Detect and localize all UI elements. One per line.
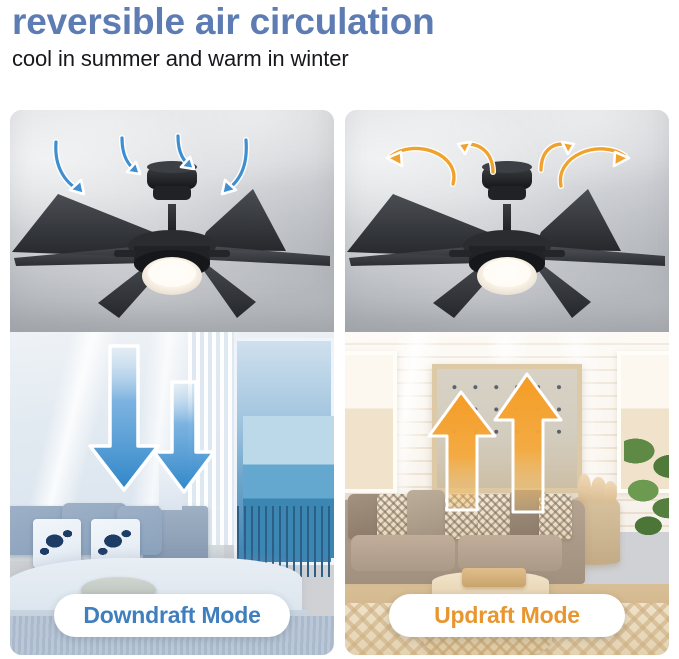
badge-downdraft[interactable]: Downdraft Mode: [54, 594, 290, 637]
header: reversible air circulation cool in summe…: [12, 2, 672, 72]
sofa-pillow: [478, 494, 514, 539]
ceiling-area-downdraft: [10, 110, 334, 332]
wooden-tray: [462, 568, 527, 587]
infographic-page: reversible air circulation cool in summe…: [0, 0, 679, 659]
panel-updraft[interactable]: Updraft Mode: [345, 110, 669, 655]
page-title: reversible air circulation: [12, 2, 672, 42]
wall-art-pattern: [444, 376, 569, 443]
window-left: [345, 351, 397, 493]
vase: [578, 474, 591, 503]
sofa-pillow: [377, 494, 409, 539]
ceiling-fan-downdraft: [10, 110, 334, 332]
sofa-seat-cushion: [351, 535, 455, 571]
sofa-seat-cushion: [458, 535, 562, 571]
houseplant: [624, 429, 669, 539]
fan-led-light: [477, 257, 537, 295]
panel-downdraft[interactable]: Downdraft Mode: [10, 110, 334, 655]
page-subtitle: cool in summer and warm in winter: [12, 46, 672, 72]
badge-downdraft-label: Downdraft Mode: [83, 602, 260, 629]
panel-row: Downdraft Mode: [0, 110, 679, 658]
fan-led-light: [142, 257, 202, 295]
sofa-pillow: [407, 490, 446, 538]
badge-updraft[interactable]: Updraft Mode: [389, 594, 625, 637]
ceiling-fan-updraft: [345, 110, 669, 332]
framed-wall-art: [432, 364, 581, 493]
badge-updraft-label: Updraft Mode: [434, 602, 580, 629]
table-lamp: [159, 461, 182, 509]
vase: [604, 481, 617, 504]
ceiling-area-updraft: [345, 110, 669, 332]
sofa-pillow: [445, 494, 481, 539]
sofa-pillow: [539, 494, 571, 539]
